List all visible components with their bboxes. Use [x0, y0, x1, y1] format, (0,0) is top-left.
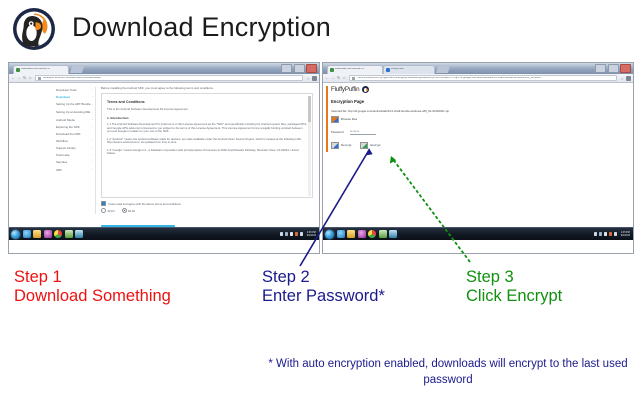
- right-windows-taskbar: 2:45 PM 9/2/2013: [323, 227, 633, 240]
- selected-file-value: http://dl.google.com/android/adt/23.0.2/…: [348, 109, 449, 113]
- explorer-icon[interactable]: [33, 230, 41, 238]
- radio-64-bit[interactable]: 64-bit: [122, 208, 136, 213]
- minimize-icon[interactable]: [595, 64, 606, 73]
- agree-label: I have read and agree with the above ter…: [108, 202, 181, 206]
- unlock-file-icon: [331, 142, 339, 150]
- address-bar[interactable]: chrome-extension://jmngkfcidfinlncalngcf…: [349, 75, 617, 81]
- home-icon[interactable]: ⌂: [29, 76, 33, 80]
- sidebar-item-tools-help[interactable]: Tools Help ›: [53, 152, 95, 159]
- decrypt-label: Decrypt: [341, 143, 351, 147]
- encryption-page-body: FluffyPuffin Encryption Page Selected fi…: [331, 86, 629, 149]
- left-browser-toolbar: ← → ↻ ⌂ developer.android.com/sdk/index.…: [9, 74, 319, 83]
- step-2-annotation: Step 2 Enter Password*: [262, 268, 385, 306]
- radio-dot-icon: [122, 208, 127, 213]
- bitness-radio-group: 32-bit 64-bit: [101, 208, 313, 213]
- chevron-right-icon: ›: [92, 154, 93, 157]
- puffin-logo-icon: [11, 6, 57, 52]
- system-tray: 2:45 PM 9/2/2013: [280, 231, 317, 237]
- chevron-right-icon: ›: [92, 140, 93, 143]
- terms-lead: This is the Android Software Development…: [107, 108, 307, 112]
- selected-file-label: Selected file:: [331, 109, 347, 113]
- fluffypuffin-brand: FluffyPuffin: [331, 86, 629, 93]
- puffin-logo-icon: [362, 86, 369, 93]
- network-icon[interactable]: [599, 232, 603, 236]
- tab-favicon-icon: [386, 68, 390, 72]
- new-tab-button[interactable]: [436, 66, 450, 73]
- volume-icon[interactable]: [604, 232, 608, 236]
- chevron-right-icon: ›: [92, 96, 93, 99]
- window-controls: [281, 64, 317, 73]
- sidebar-item-exploring-the-sdk[interactable]: Exploring the SDK ›: [53, 124, 95, 131]
- chevron-right-icon: ›: [92, 168, 93, 171]
- bookmark-star-icon[interactable]: ☆: [620, 76, 624, 81]
- notepad-icon[interactable]: [379, 230, 387, 238]
- minimize-icon[interactable]: [281, 64, 292, 73]
- right-browser-tab-1[interactable]: Download the Android S...: [327, 65, 383, 75]
- chevron-right-icon: ›: [92, 103, 93, 106]
- sidebar-item-setting-up-adt-bundle[interactable]: Setting Up the ADT Bundle ›: [53, 101, 95, 109]
- encryption-actions: Decrypt Encrypt: [331, 142, 629, 150]
- step-2-line-2: Enter Password*: [262, 287, 385, 306]
- sidebar-item-download[interactable]: Download ›: [53, 94, 95, 101]
- chevron-right-icon: ›: [92, 89, 93, 92]
- left-browser-titlebar: Download the Android S...: [9, 63, 319, 74]
- tab-title: Download the Android S...: [21, 68, 51, 71]
- sidebar-item-download-the-ndk[interactable]: Download the NDK: [53, 131, 95, 138]
- browser-icon[interactable]: [337, 230, 345, 238]
- right-browser-titlebar: Download the Android S... FluffyPuffin: [323, 63, 633, 74]
- address-bar-url: chrome-extension://jmngkfcidfinlncalngcf…: [357, 77, 543, 80]
- step-3-line-1: Step 3: [466, 268, 562, 287]
- password-row: Password •••••••: [331, 129, 629, 135]
- paint-icon[interactable]: [75, 230, 83, 238]
- header: Download Encryption: [0, 0, 640, 58]
- android-sdk-download-screenshot: Download the Android S... ← → ↻ ⌂ develo…: [8, 62, 320, 254]
- password-label: Password: [331, 130, 344, 134]
- forward-arrow-icon[interactable]: →: [331, 76, 335, 80]
- clock-date: 9/2/2013: [621, 234, 630, 237]
- start-orb-icon[interactable]: [11, 230, 20, 239]
- chevron-right-icon: ›: [92, 119, 93, 122]
- chrome-icon[interactable]: [368, 230, 376, 238]
- paint-icon[interactable]: [389, 230, 397, 238]
- encrypt-label: Encrypt: [370, 143, 380, 147]
- media-player-icon[interactable]: [358, 230, 366, 238]
- taskbar-clock[interactable]: 2:45 PM 9/2/2013: [305, 231, 316, 237]
- clock-date: 9/2/2013: [307, 234, 316, 237]
- network-icon[interactable]: [285, 232, 289, 236]
- flag-icon[interactable]: [300, 232, 304, 236]
- volume-icon[interactable]: [290, 232, 294, 236]
- system-tray: 2:45 PM 9/2/2013: [594, 231, 631, 237]
- tab-favicon-icon: [330, 68, 334, 72]
- chrome-icon[interactable]: [54, 230, 62, 238]
- browser-icon[interactable]: [23, 230, 31, 238]
- android-docs-content: Before installing the Android SDK, you m…: [101, 87, 313, 220]
- terms-box: Terms and Conditions This is the Android…: [101, 93, 313, 198]
- footnote-annotation: * With auto encryption enabled, download…: [268, 356, 628, 389]
- forward-arrow-icon[interactable]: →: [17, 76, 21, 80]
- address-bar-url: developer.android.com/sdk/index.html#dow…: [43, 77, 101, 80]
- arrow-icon[interactable]: [280, 232, 284, 236]
- install-intro-text: Before installing the Android SDK, you m…: [101, 87, 313, 90]
- radio-32-bit[interactable]: 32-bit: [101, 208, 115, 213]
- terms-section-heading: 1. Introduction: [107, 116, 307, 120]
- browse-files-label: Browse files: [341, 117, 357, 121]
- poster-root: Download Encryption Download the Android…: [0, 0, 640, 400]
- tab-favicon-icon: [16, 68, 20, 72]
- left-browser-tab[interactable]: Download the Android S...: [13, 65, 69, 75]
- explorer-icon[interactable]: [347, 230, 355, 238]
- sidebar-item-developer-tools[interactable]: Developer Tools ›: [53, 87, 95, 94]
- terms-paragraph: 1.3 "Google" means Google Inc., a Delawa…: [107, 149, 307, 157]
- step-2-line-1: Step 2: [262, 268, 385, 287]
- right-page-viewport: FluffyPuffin Encryption Page Selected fi…: [323, 83, 633, 240]
- lock-file-icon: [360, 142, 368, 150]
- tab-title: FluffyPuffin: [391, 68, 404, 71]
- maximize-icon[interactable]: [294, 64, 305, 73]
- password-input[interactable]: •••••••: [350, 129, 376, 135]
- shield-icon[interactable]: [295, 232, 299, 236]
- right-browser-toolbar: ← → ↻ ⌂ chrome-extension://jmngkfcidfinl…: [323, 74, 633, 83]
- brand-name: FluffyPuffin: [331, 86, 359, 93]
- reload-icon[interactable]: ↻: [337, 76, 341, 80]
- window-controls: [595, 64, 631, 73]
- sidebar-item-android-studio[interactable]: Android Studio ›: [53, 117, 95, 124]
- maximize-icon[interactable]: [608, 64, 619, 73]
- page-info-icon: [352, 77, 355, 80]
- right-browser-tab-2[interactable]: FluffyPuffin: [383, 65, 435, 75]
- left-page-viewport: Developer Tools › Download › Setting Up …: [9, 83, 319, 240]
- home-icon[interactable]: ⌂: [343, 76, 347, 80]
- browse-files-button[interactable]: Browse files: [331, 116, 629, 124]
- close-icon[interactable]: [620, 64, 631, 73]
- bookmark-star-icon[interactable]: ☆: [306, 76, 310, 81]
- android-docs-sidebar: Developer Tools › Download › Setting Up …: [53, 87, 96, 214]
- left-windows-taskbar: 2:45 PM 9/2/2013: [9, 227, 319, 240]
- reload-icon[interactable]: ↻: [23, 76, 27, 80]
- shield-icon[interactable]: [609, 232, 613, 236]
- arrow-icon[interactable]: [594, 232, 598, 236]
- step-1-annotation: Step 1 Download Something: [14, 268, 171, 306]
- tab-title: Download the Android S...: [335, 68, 365, 71]
- agree-checkbox-row[interactable]: I have read and agree with the above ter…: [101, 201, 313, 206]
- step-3-line-2: Click Encrypt: [466, 287, 562, 306]
- radio-dot-icon: [101, 208, 106, 213]
- page-title: Download Encryption: [72, 12, 331, 43]
- new-tab-button[interactable]: [70, 66, 84, 73]
- selected-file-row: Selected file: http://dl.google.com/andr…: [331, 109, 629, 113]
- chevron-right-icon: ›: [92, 161, 93, 164]
- chrome-menu-icon[interactable]: [312, 76, 317, 81]
- radio-64-bit-label: 64-bit: [128, 209, 135, 213]
- flag-icon[interactable]: [614, 232, 618, 236]
- folder-open-icon: [331, 116, 339, 124]
- chevron-right-icon: ›: [92, 126, 93, 129]
- taskbar-clock[interactable]: 2:45 PM 9/2/2013: [619, 231, 630, 237]
- step-1-line-2: Download Something: [14, 287, 171, 306]
- radio-32-bit-label: 32-bit: [108, 209, 115, 213]
- terms-heading: Terms and Conditions: [107, 100, 307, 104]
- page-accent-bar: [326, 86, 328, 152]
- sidebar-item-setting-up-existing-ide[interactable]: Setting Up an Existing IDE ›: [53, 109, 95, 117]
- chrome-menu-icon[interactable]: [626, 76, 631, 81]
- close-icon[interactable]: [306, 64, 317, 73]
- back-arrow-icon[interactable]: ←: [325, 76, 329, 80]
- agree-checkbox[interactable]: [101, 201, 106, 206]
- step-3-annotation: Step 3 Click Encrypt: [466, 268, 562, 306]
- page-info-icon: [38, 77, 41, 80]
- chevron-right-icon: ›: [92, 147, 93, 150]
- sidebar-item-workflow[interactable]: Workflow ›: [53, 138, 95, 145]
- sidebar-item-support-library[interactable]: Support Library ›: [53, 145, 95, 152]
- media-player-icon[interactable]: [44, 230, 52, 238]
- encryption-page-heading: Encryption Page: [331, 99, 629, 104]
- terms-paragraph: 1.2 "Android" means the Android software…: [107, 138, 307, 146]
- sidebar-item-sdk[interactable]: SDK ›: [53, 166, 95, 173]
- terms-scrollbar[interactable]: [308, 96, 311, 196]
- encrypt-button[interactable]: Encrypt: [360, 142, 380, 150]
- back-arrow-icon[interactable]: ←: [11, 76, 15, 80]
- chevron-right-icon: ›: [92, 111, 93, 114]
- step-1-line-1: Step 1: [14, 268, 171, 287]
- sidebar-item-samples[interactable]: Samples ›: [53, 159, 95, 166]
- notepad-icon[interactable]: [65, 230, 73, 238]
- decrypt-button[interactable]: Decrypt: [331, 142, 351, 150]
- fluffypuffin-encryption-screenshot: Download the Android S... FluffyPuffin ←…: [322, 62, 634, 254]
- start-orb-icon[interactable]: [325, 230, 334, 239]
- address-bar[interactable]: developer.android.com/sdk/index.html#dow…: [35, 75, 303, 81]
- terms-paragraph: 1.1 The Android Software Development Kit…: [107, 123, 307, 134]
